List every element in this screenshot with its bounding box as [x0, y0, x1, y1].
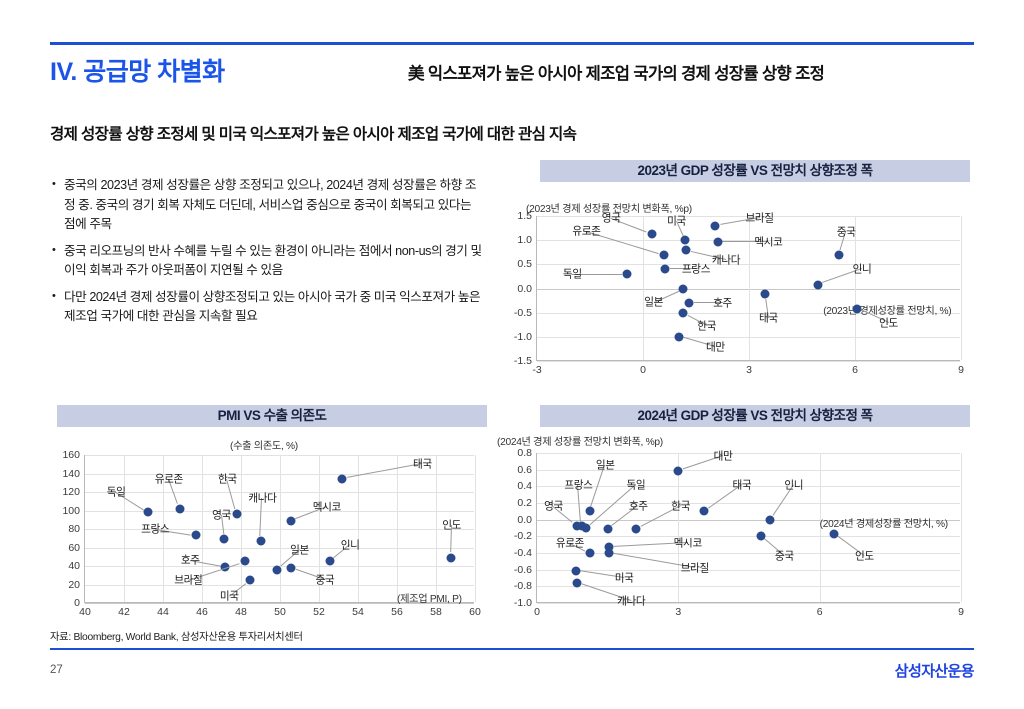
data-point-label: 인도 [855, 549, 874, 564]
data-point[interactable] [446, 553, 455, 562]
data-point[interactable] [813, 280, 822, 289]
data-point-label: 미국 [615, 571, 634, 586]
bullet-list: 중국의 2023년 경제 성장률은 상향 조정되고 있으나, 2024년 경제 … [52, 176, 482, 334]
x-axis-tick: 6 [852, 364, 858, 376]
y-axis-tick: -1.0 [514, 597, 532, 609]
section-title: 경제 성장률 상향 조정세 및 미국 익스포져가 높은 아시아 제조업 국가에 … [50, 122, 576, 144]
y-axis-tick: 120 [62, 486, 80, 498]
x-axis-tick: 58 [430, 606, 442, 618]
y-axis-tick: -1.5 [514, 355, 532, 367]
y-axis-tick: 40 [68, 560, 80, 572]
x-axis-tick: 60 [469, 606, 481, 618]
gridline [749, 216, 750, 360]
data-point-label: 호주 [629, 498, 648, 513]
chart-pmi-export: PMI VS 수출 의존도 (수출 의존도, %) 16014012010080… [40, 405, 490, 625]
y-axis-tick: 1.0 [517, 234, 532, 246]
y-axis-tick: -0.4 [514, 547, 532, 559]
data-point[interactable] [623, 269, 632, 278]
data-point[interactable] [144, 508, 153, 517]
data-point[interactable] [684, 299, 693, 308]
gridline [537, 536, 960, 537]
page-number: 27 [50, 664, 63, 676]
data-point-label: 한국 [697, 318, 716, 333]
data-point-label: 프랑스 [564, 477, 592, 492]
x-axis-tick: 40 [79, 606, 91, 618]
plot-area: 0.80.60.40.20.0-0.2-0.4-0.6-0.8-1.00369(… [536, 453, 960, 603]
company-logo: 삼성자산운용 [895, 660, 974, 681]
data-point-label: 멕시코 [313, 499, 341, 514]
y-axis-tick: 140 [62, 468, 80, 480]
data-point[interactable] [678, 284, 687, 293]
x-axis-tick: 52 [313, 606, 325, 618]
data-point-label: 호주 [181, 553, 200, 568]
y-axis-tick: 0.8 [517, 447, 532, 459]
data-point-label: 독일 [107, 485, 126, 500]
data-point-label: 유로존 [572, 224, 600, 239]
data-point[interactable] [681, 236, 690, 245]
gridline [643, 216, 644, 360]
data-point[interactable] [604, 549, 613, 558]
data-point[interactable] [256, 537, 265, 546]
list-item: 중국 리오프닝의 반사 수혜를 누릴 수 있는 환경이 아니라는 점에서 non… [52, 242, 482, 281]
x-axis-tick: 56 [391, 606, 403, 618]
data-point-label: 브라질 [174, 572, 202, 587]
data-point-label: 유로존 [155, 472, 183, 487]
data-point-label: 태국 [759, 311, 778, 326]
gridline [961, 216, 962, 360]
x-axis-caption: (2023년 경제성장률 전망치, %) [823, 302, 951, 317]
data-point[interactable] [682, 246, 691, 255]
data-point-label: 멕시코 [754, 234, 782, 249]
x-axis-tick: 6 [817, 606, 823, 618]
gridline [280, 455, 281, 602]
data-point-label: 중국 [837, 224, 856, 239]
gridline [537, 553, 960, 554]
y-axis-tick: 0.4 [517, 480, 532, 492]
data-point-label: 프랑스 [682, 262, 710, 277]
data-point[interactable] [760, 290, 769, 299]
data-point-label: 태국 [413, 457, 432, 472]
data-point[interactable] [674, 466, 683, 475]
gridline [241, 455, 242, 602]
data-point[interactable] [647, 229, 656, 238]
data-point[interactable] [571, 566, 580, 575]
y-axis-tick: 20 [68, 579, 80, 591]
gridline [475, 455, 476, 602]
y-axis-tick: 0.5 [517, 258, 532, 270]
source-note: 자료: Bloomberg, World Bank, 삼성자산운용 투자리서치센… [50, 628, 303, 643]
plot-area: 1601401201008060402004042444648505254565… [84, 455, 474, 603]
data-point[interactable] [660, 251, 669, 260]
data-point-label: 인니 [341, 537, 360, 552]
data-point-label: 캐나다 [617, 594, 645, 609]
slide: IV. 공급망 차별화 美 익스포져가 높은 아시아 제조업 국가의 경제 성장… [0, 0, 1024, 709]
y-axis-tick: 160 [62, 449, 80, 461]
page-title: IV. 공급망 차별화 [50, 52, 225, 88]
x-axis-tick: 9 [958, 364, 964, 376]
y-axis-tick: -0.5 [514, 307, 532, 319]
y-axis-tick: -0.8 [514, 580, 532, 592]
list-item: 다만 2024년 경제 성장률이 상향조정되고 있는 아시아 국가 중 미국 익… [52, 288, 482, 327]
data-point[interactable] [631, 524, 640, 533]
data-point-label: 인도 [879, 316, 898, 331]
data-point-label: 중국 [775, 549, 794, 564]
data-point-label: 태국 [733, 477, 752, 492]
y-axis-tick: 0.0 [517, 514, 532, 526]
gridline [678, 453, 679, 602]
chart-title: 2023년 GDP 성장률 VS 전망치 상향조정 폭 [540, 160, 970, 182]
data-point[interactable] [678, 309, 687, 318]
data-point-label: 호주 [713, 296, 732, 311]
y-axis-tick: 1.5 [517, 210, 532, 222]
data-point[interactable] [852, 304, 861, 313]
data-point[interactable] [220, 535, 229, 544]
data-point[interactable] [175, 504, 184, 513]
data-point[interactable] [273, 565, 282, 574]
y-axis-tick: 0.6 [517, 464, 532, 476]
chart-gdp-2024: 2024년 GDP 성장률 VS 전망치 상향조정 폭 (2024년 경제 성장… [490, 405, 980, 625]
x-axis-tick: 44 [157, 606, 169, 618]
data-point[interactable] [675, 332, 684, 341]
data-point[interactable] [573, 579, 582, 588]
data-point[interactable] [711, 222, 720, 231]
data-point-label: 인니 [784, 477, 803, 492]
data-point-label: 영국 [602, 211, 621, 226]
y-axis-tick: 80 [68, 523, 80, 535]
gridline [537, 453, 960, 454]
data-point-label: 캐나다 [248, 491, 276, 506]
data-point[interactable] [766, 515, 775, 524]
data-point[interactable] [245, 575, 254, 584]
x-axis-tick: 48 [235, 606, 247, 618]
data-point[interactable] [338, 475, 347, 484]
gridline [537, 603, 960, 604]
data-point[interactable] [585, 507, 594, 516]
plot-area: 1.51.00.50.0-0.5-1.0-1.5-30369(2023년 경제성… [536, 216, 960, 361]
data-point-label: 미국 [667, 213, 686, 228]
data-point[interactable] [603, 524, 612, 533]
data-point[interactable] [713, 237, 722, 246]
data-point[interactable] [286, 563, 295, 572]
y-axis-tick: 0.2 [517, 497, 532, 509]
gridline [124, 455, 125, 602]
y-axis-tick: -0.2 [514, 530, 532, 542]
x-axis-tick: 42 [118, 606, 130, 618]
data-point[interactable] [829, 529, 838, 538]
data-point[interactable] [660, 265, 669, 274]
x-axis-tick: 9 [958, 606, 964, 618]
data-point[interactable] [700, 507, 709, 516]
data-point[interactable] [286, 516, 295, 525]
y-axis-caption: (수출 의존도, %) [230, 437, 298, 452]
gridline [358, 455, 359, 602]
gridline [537, 586, 960, 587]
data-point[interactable] [573, 521, 582, 530]
data-point[interactable] [585, 549, 594, 558]
gridline [537, 570, 960, 571]
x-axis-tick: 50 [274, 606, 286, 618]
header-note: 美 익스포져가 높은 아시아 제조업 국가의 경제 성장률 상향 조정 [408, 60, 968, 84]
y-axis-tick: 60 [68, 542, 80, 554]
gridline [436, 455, 437, 602]
data-point-label: 일본 [596, 457, 615, 472]
data-point-label: 대만 [714, 448, 733, 463]
x-axis-tick: 54 [352, 606, 364, 618]
data-point[interactable] [240, 557, 249, 566]
data-point-label: 한국 [671, 498, 690, 513]
data-point[interactable] [233, 510, 242, 519]
y-axis-caption: (2024년 경제 성장률 전망치 변화폭, %p) [497, 433, 663, 448]
gridline [537, 503, 960, 504]
data-point-label: 프랑스 [141, 522, 169, 537]
gridline [397, 455, 398, 602]
y-axis-tick: 100 [62, 505, 80, 517]
y-axis-tick: -0.6 [514, 564, 532, 576]
data-point-label: 인도 [442, 518, 461, 533]
data-point-label: 대만 [706, 340, 725, 355]
data-point[interactable] [756, 532, 765, 541]
data-point[interactable] [192, 531, 201, 540]
data-point-label: 일본 [290, 543, 309, 558]
data-point[interactable] [325, 557, 334, 566]
data-point-label: 브라질 [745, 211, 773, 226]
data-point-label: 브라질 [681, 561, 709, 576]
gridline [537, 361, 960, 362]
data-point-label: 독일 [563, 266, 582, 281]
data-point-label: 미국 [220, 588, 239, 603]
data-point-label: 캐나다 [712, 252, 740, 267]
data-point[interactable] [582, 524, 591, 533]
y-axis-tick: -1.0 [514, 331, 532, 343]
x-axis-tick: 46 [196, 606, 208, 618]
x-axis-tick: 3 [746, 364, 752, 376]
data-point-label: 중국 [315, 572, 334, 587]
x-axis-caption: (2024년 경제성장률 전망치, %) [820, 515, 948, 530]
data-point-label: 인니 [853, 262, 872, 277]
x-axis-tick: -3 [532, 364, 541, 376]
list-item: 중국의 2023년 경제 성장률은 상향 조정되고 있으나, 2024년 경제 … [52, 176, 482, 235]
x-axis-tick: 3 [675, 606, 681, 618]
chart-title: 2024년 GDP 성장률 VS 전망치 상향조정 폭 [540, 405, 970, 427]
data-point-label: 한국 [218, 472, 237, 487]
x-axis-caption: (제조업 PMI, P) [397, 590, 462, 605]
y-axis-tick: 0.0 [517, 283, 532, 295]
footer-rule [50, 648, 974, 650]
data-point-label: 멕시코 [674, 536, 702, 551]
data-point-label: 영국 [544, 499, 563, 514]
chart-title: PMI VS 수출 의존도 [57, 405, 487, 427]
data-point-label: 일본 [644, 294, 663, 309]
gridline [961, 453, 962, 602]
x-axis-tick: 0 [640, 364, 646, 376]
data-point-label: 독일 [627, 477, 646, 492]
data-point-label: 영국 [212, 508, 231, 523]
data-point[interactable] [835, 251, 844, 260]
header-rule [50, 42, 974, 45]
data-point-label: 유로존 [556, 536, 584, 551]
chart-gdp-2023: 2023년 GDP 성장률 VS 전망치 상향조정 폭 (2023년 경제 성장… [490, 160, 980, 385]
x-axis-tick: 0 [534, 606, 540, 618]
